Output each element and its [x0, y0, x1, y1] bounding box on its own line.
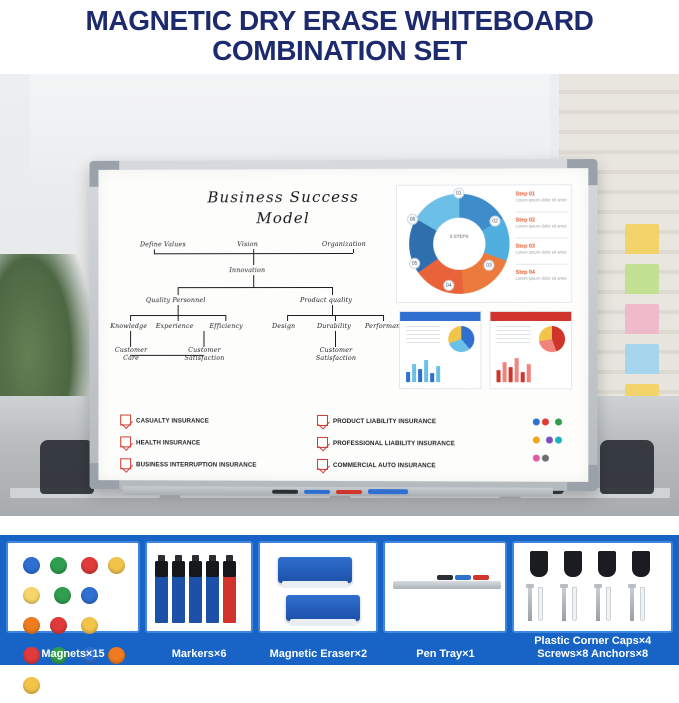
donut-number: 05 [409, 258, 420, 269]
tree-node-knowledge: Knowledge [110, 323, 147, 330]
whiteboard-surface: Business Success Model Teamwork Leadersh… [98, 168, 588, 482]
donut-number: 03 [483, 260, 494, 271]
tree-node-efficiency: Efficiency [209, 323, 242, 330]
hero-photo: Business Success Model Teamwork Leadersh… [0, 74, 679, 516]
step-desc: Lorem ipsum dolor sit amet [516, 250, 567, 255]
accessory-strip: Magnets×15 Markers×6 Magnetic Eraser×2 P… [0, 535, 679, 665]
tree-node-durability: Durability [317, 323, 351, 330]
check-icon [317, 459, 328, 470]
whiteboard-frame: Business Success Model Teamwork Leadersh… [90, 159, 598, 491]
checklist-item: PROFESSIONAL LIABILITY INSURANCE [333, 440, 455, 447]
donut-number: 01 [453, 188, 464, 199]
checklist-item: CASUALTY INSURANCE [136, 418, 209, 425]
step-desc: Lorem ipsum dolor sit amet [516, 197, 567, 202]
magnet-grid [18, 553, 134, 703]
check-icon [317, 415, 328, 426]
check-icon [120, 436, 131, 447]
board-heading-line-1: Business Success [154, 187, 413, 209]
checklist-item: COMMERCIAL AUTO INSURANCE [333, 462, 436, 469]
board-heading: Business Success Model [154, 187, 413, 230]
tree-node-experience: Experience [156, 323, 194, 330]
tree-node-vision: Vision [237, 241, 258, 248]
checklist-item: PRODUCT LIABILITY INSURANCE [333, 418, 436, 425]
accessory-label-pen-tray: Pen Tray×1 [385, 648, 505, 661]
donut-number: 02 [489, 216, 500, 227]
check-icon [317, 437, 328, 448]
accessory-cell-pen-tray: Pen Tray×1 [383, 541, 507, 633]
report-card-blue [399, 311, 481, 389]
accessory-label-markers: Markers×6 [147, 648, 251, 661]
whiteboard-pen-tray [123, 486, 553, 497]
whiteboard: Business Success Model Teamwork Leadersh… [90, 159, 598, 491]
accessory-label-hardware: Plastic Corner Caps×4 Screws×8 Anchors×8 [514, 635, 671, 661]
accessory-label-hardware-line-1: Plastic Corner Caps×4 [514, 635, 671, 648]
accessory-cell-magnets: Magnets×15 [6, 541, 140, 633]
tree-node-design: Design [272, 323, 295, 330]
donut-number: 04 [443, 280, 454, 291]
tree-node-quality-personnel: Quality Personnel [146, 297, 206, 304]
pen-tray-illustration [393, 571, 501, 597]
tree-node-innovation: Innovation [229, 267, 265, 274]
donut-center-label: 5 STEPS [409, 234, 510, 239]
check-icon [120, 458, 131, 469]
board-heading-line-2: Model [154, 208, 413, 230]
accessory-label-magnets: Magnets×15 [8, 648, 138, 661]
check-icon [120, 415, 131, 426]
step-desc: Lorem ipsum dolor sit amet [516, 276, 567, 281]
five-steps-diagram-poster: 5 STEPS 01 02 03 04 05 06 Step 01 Lorem … [396, 184, 572, 303]
tree-node-product-quality: Product quality [300, 297, 352, 304]
accessory-cell-hardware: Plastic Corner Caps×4 Screws×8 Anchors×8 [512, 541, 673, 633]
title-line-1: MAGNETIC DRY ERASE WHITEBOARD [0, 6, 679, 36]
tree-node-customer-satisfaction-right: Customer Satisfaction [313, 347, 359, 363]
tree-node-customer-satisfaction-left: Customer Satisfaction [182, 347, 228, 363]
report-card-red [489, 311, 572, 389]
board-magnets [532, 413, 566, 467]
checklist-item: BUSINESS INTERRUPTION INSURANCE [136, 461, 257, 468]
accessory-cell-markers: Markers×6 [145, 541, 253, 633]
accessory-label-eraser: Magnetic Eraser×2 [260, 648, 376, 661]
product-title-block: MAGNETIC DRY ERASE WHITEBOARD COMBINATIO… [0, 0, 679, 74]
tree-node-organization: Organization [322, 241, 366, 248]
donut-chart [409, 193, 510, 293]
tree-node-define-values: Define Values [140, 241, 186, 248]
tree-node-customer-care: Customer Care [108, 347, 154, 363]
accessory-label-hardware-line-2: Screws×8 Anchors×8 [514, 648, 671, 661]
accessory-cell-eraser: Magnetic Eraser×2 [258, 541, 378, 633]
business-model-tree: Define Values Vision Organization Innova… [118, 231, 427, 421]
donut-number: 06 [407, 214, 418, 225]
title-line-2: COMBINATION SET [0, 36, 679, 66]
checklist-item: HEALTH INSURANCE [136, 439, 200, 446]
step-desc: Lorem ipsum dolor sit amet [516, 223, 567, 228]
